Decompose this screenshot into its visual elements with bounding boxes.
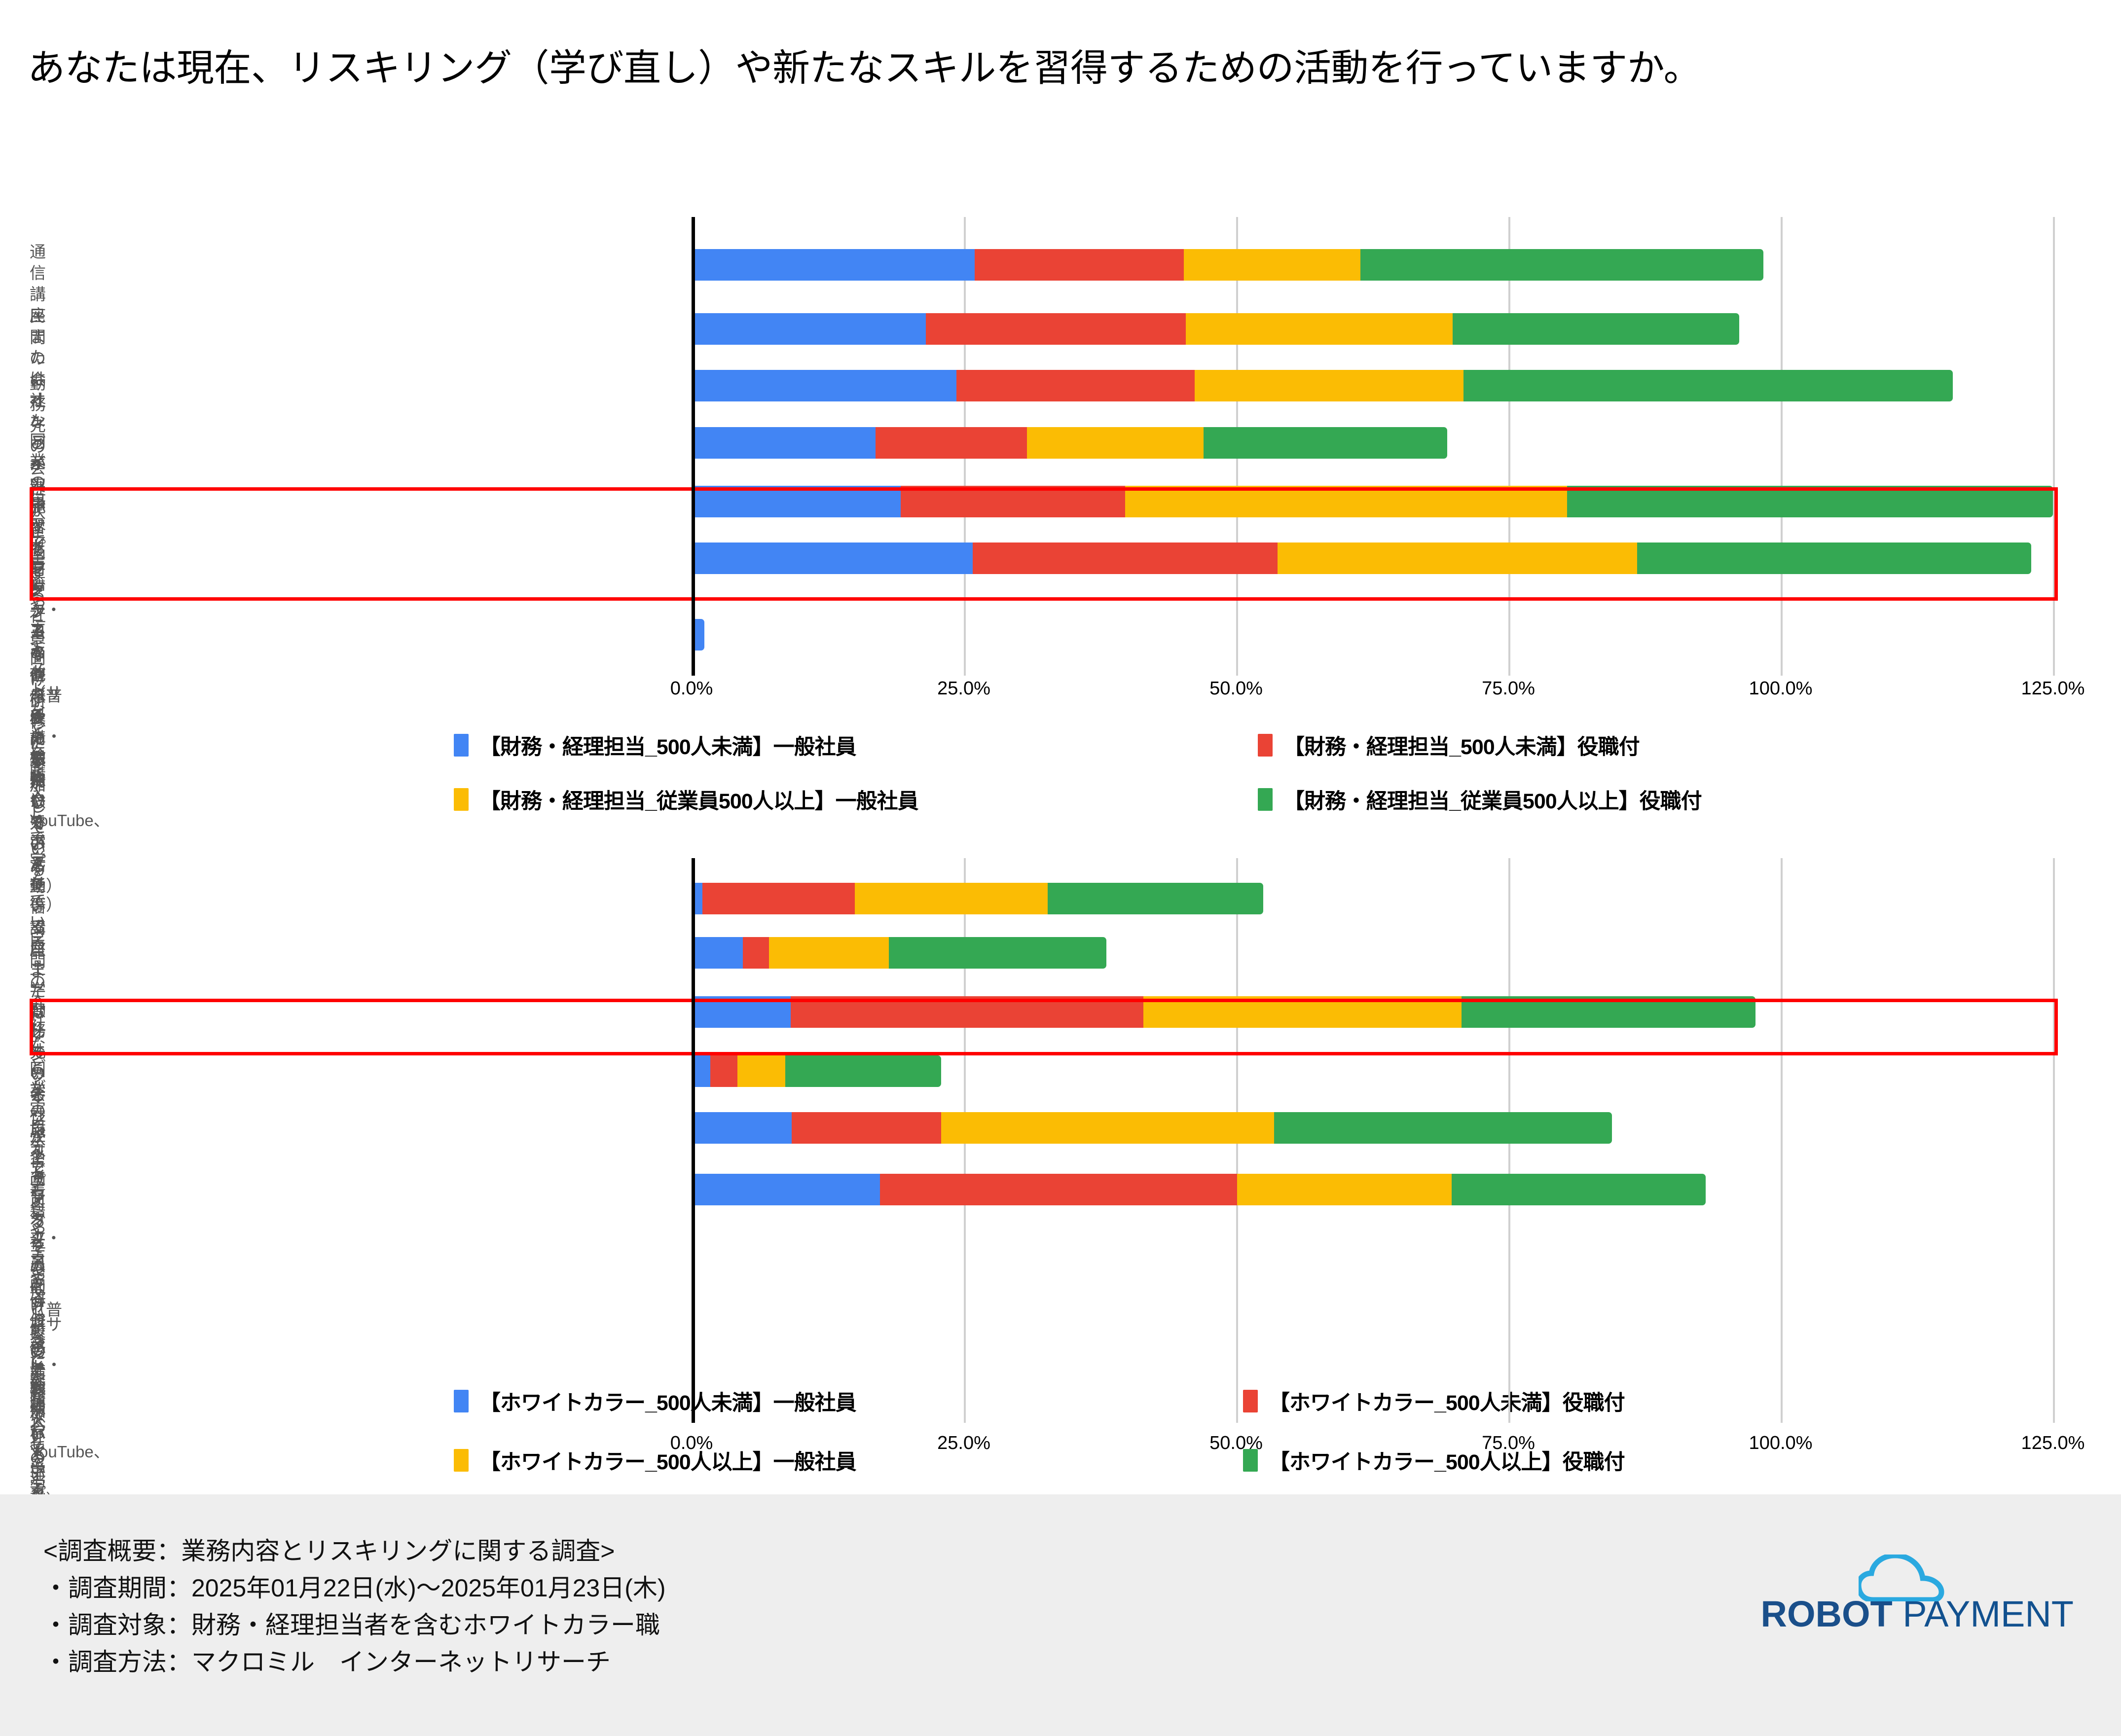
bar-segment <box>1186 313 1453 345</box>
bar-segment <box>792 1112 941 1144</box>
bar-segment <box>1125 486 1567 517</box>
gridline-125.0% <box>2053 858 2055 1423</box>
bar-row <box>692 370 1953 401</box>
bar-segment <box>702 883 855 914</box>
legend-color-swatch <box>1243 1390 1258 1412</box>
bar-segment <box>926 313 1186 345</box>
bar-segment <box>692 937 743 969</box>
bar-segment <box>1462 996 1755 1028</box>
bar-segment <box>1452 1174 1705 1205</box>
legend-color-swatch <box>454 734 469 757</box>
bar-segment <box>692 1112 792 1144</box>
legend-color-swatch <box>454 1390 469 1412</box>
robot-payment-logo: ROBOT PAYMENT <box>1761 1593 2074 1635</box>
bar-row <box>692 542 2031 574</box>
bar-segment <box>1463 370 1952 401</box>
legend-item[interactable]: 【財務・経理担当_従業員500人以上】役職付 <box>1258 784 1702 815</box>
cloud-icon <box>1859 1555 1972 1604</box>
bar-segment <box>1184 249 1360 281</box>
bar-row <box>692 1112 1612 1144</box>
legend-color-swatch <box>454 1449 469 1472</box>
legend-item[interactable]: 【財務・経理担当_500人未満】役職付 <box>1258 730 1640 760</box>
bar-row <box>692 996 1755 1028</box>
gridline-75.0% <box>1508 217 1510 676</box>
footer-line: ・調査対象：財務・経理担当者を含むホワイトカラー職 <box>43 1607 666 1644</box>
gridline-100.0% <box>1781 858 1783 1423</box>
bar-segment <box>1204 427 1448 459</box>
bar-row <box>692 313 1739 345</box>
survey-overview-text: <調査概要：業務内容とリスキリングに関する調査>・調査期間：2025年01月22… <box>43 1533 666 1681</box>
page-title: あなたは現在、リスキリング（学び直し）や新たなスキルを習得するための活動を行って… <box>28 44 1803 93</box>
legend-item[interactable]: 【ホワイトカラー_500人未満】役職付 <box>1243 1386 1625 1416</box>
bar-segment <box>975 249 1184 281</box>
bar-row <box>692 883 1263 914</box>
bar-row <box>692 486 2053 517</box>
bar-segment <box>785 1055 941 1087</box>
bar-segment <box>1048 883 1263 914</box>
bar-segment <box>973 542 1278 574</box>
x-tick-label: 0.0% <box>670 678 713 699</box>
legend-label: 【ホワイトカラー_500人未満】一般社員 <box>479 1386 856 1416</box>
infographic-root: あなたは現在、リスキリング（学び直し）や新たなスキルを習得するための活動を行って… <box>0 0 2121 1736</box>
footer-panel: <調査概要：業務内容とリスキリングに関する調査>・調査期間：2025年01月22… <box>0 1494 2121 1736</box>
bar-segment <box>1143 996 1462 1028</box>
y-axis-line <box>692 858 695 1423</box>
bar-segment <box>692 1174 880 1205</box>
bar-row <box>692 937 1106 969</box>
bar-segment <box>1195 370 1463 401</box>
bar-segment <box>1567 486 2053 517</box>
bar-segment <box>743 937 769 969</box>
bar-segment <box>692 427 876 459</box>
x-tick-label: 75.0% <box>1482 678 1535 699</box>
bar-segment <box>880 1174 1237 1205</box>
bar-segment <box>1453 313 1739 345</box>
legend-item[interactable]: 【ホワイトカラー_500人以上】役職付 <box>1243 1445 1625 1476</box>
x-tick-label: 125.0% <box>2021 678 2085 699</box>
legend-color-swatch <box>1243 1449 1258 1472</box>
legend-item[interactable]: 【財務・経理担当_500人未満】一般社員 <box>454 730 856 760</box>
bar-segment <box>1278 542 1637 574</box>
legend-label: 【財務・経理担当_500人未満】一般社員 <box>479 730 856 760</box>
bar-segment <box>692 313 926 345</box>
bar-segment <box>956 370 1195 401</box>
bar-segment <box>941 1112 1275 1144</box>
bar-row <box>692 427 1447 459</box>
footer-line: ・調査方法：マクロミル インターネットリサーチ <box>43 1644 666 1681</box>
legend-item[interactable]: 【財務・経理担当_従業員500人以上】一般社員 <box>454 784 918 815</box>
bar-segment <box>692 249 975 281</box>
x-tick-label: 25.0% <box>937 1433 990 1454</box>
x-tick-label: 100.0% <box>1749 678 1813 699</box>
gridline-125.0% <box>2053 217 2055 676</box>
gridline-100.0% <box>1781 217 1783 676</box>
x-tick-label: 25.0% <box>937 678 990 699</box>
legend-color-swatch <box>454 788 469 811</box>
bar-segment <box>737 1055 785 1087</box>
bar-segment <box>901 486 1125 517</box>
legend-item[interactable]: 【ホワイトカラー_500人未満】一般社員 <box>454 1386 856 1416</box>
bar-segment <box>889 937 1107 969</box>
bar-row <box>692 1055 941 1087</box>
legend-item[interactable]: 【ホワイトカラー_500人以上】一般社員 <box>454 1445 856 1476</box>
bar-segment <box>1237 1174 1452 1205</box>
x-tick-label: 50.0% <box>1209 678 1263 699</box>
legend-label: 【財務・経理担当_500人未満】役職付 <box>1283 730 1640 760</box>
legend-label: 【財務・経理担当_従業員500人以上】一般社員 <box>479 784 918 815</box>
bar-segment <box>692 542 973 574</box>
legend-label: 【ホワイトカラー_500人未満】役職付 <box>1269 1386 1625 1416</box>
bar-segment <box>876 427 1027 459</box>
x-tick-label: 100.0% <box>1749 1433 1813 1454</box>
bar-row <box>692 249 1763 281</box>
bar-segment <box>769 937 889 969</box>
bar-segment <box>710 1055 737 1087</box>
legend-color-swatch <box>1258 788 1273 811</box>
bar-segment <box>855 883 1048 914</box>
x-tick-label: 125.0% <box>2021 1433 2085 1454</box>
y-axis-line <box>692 217 695 676</box>
legend-label: 【ホワイトカラー_500人以上】一般社員 <box>479 1445 856 1476</box>
legend-label: 【財務・経理担当_従業員500人以上】役職付 <box>1283 784 1702 815</box>
footer-line: ・調査期間：2025年01月22日(水)〜2025年01月23日(木) <box>43 1570 666 1607</box>
bar-segment <box>1274 1112 1611 1144</box>
legend-label: 【ホワイトカラー_500人以上】役職付 <box>1269 1445 1625 1476</box>
bar-segment <box>692 486 901 517</box>
bar-segment <box>1360 249 1763 281</box>
bar-segment <box>1637 542 2031 574</box>
bar-segment <box>791 996 1143 1028</box>
bar-row <box>692 1174 1706 1205</box>
legend-color-swatch <box>1258 734 1273 757</box>
footer-line: <調査概要：業務内容とリスキリングに関する調査> <box>43 1533 666 1570</box>
bar-segment <box>1027 427 1204 459</box>
bar-segment <box>692 370 956 401</box>
bar-segment <box>692 996 791 1028</box>
